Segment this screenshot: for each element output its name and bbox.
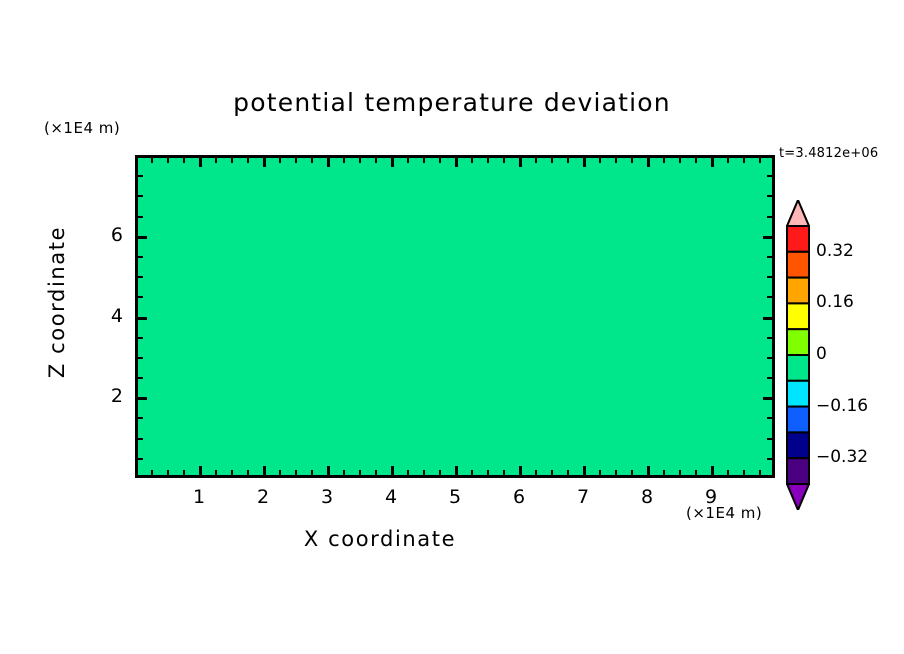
colorbar-cap-top	[787, 200, 809, 226]
x-tick-label: 1	[179, 486, 219, 508]
y-tick	[138, 276, 143, 278]
x-tick-top	[391, 158, 394, 167]
x-tick	[535, 470, 537, 475]
x-tick-label: 6	[499, 486, 539, 508]
x-tick	[679, 470, 681, 475]
x-tick	[151, 470, 153, 475]
x-tick-top	[631, 158, 633, 163]
x-tick	[359, 470, 361, 475]
colorbar-band	[787, 252, 809, 278]
y-tick	[138, 357, 143, 359]
colorbar-tick-label: 0.32	[816, 241, 854, 261]
x-tick-label: 3	[307, 486, 347, 508]
colorbar-band	[787, 432, 809, 458]
y-tick	[138, 195, 143, 197]
y-tick	[138, 216, 143, 218]
x-tick	[199, 466, 202, 475]
x-tick	[183, 470, 185, 475]
y-tick-label: 6	[99, 224, 123, 246]
x-tick	[743, 470, 745, 475]
y-tick-right	[767, 377, 772, 379]
x-tick	[247, 470, 249, 475]
colorbar-swatches	[786, 200, 810, 510]
x-tick-top	[295, 158, 297, 163]
x-tick-top	[503, 158, 505, 163]
x-tick	[631, 470, 633, 475]
x-tick	[519, 466, 522, 475]
x-tick-top	[247, 158, 249, 163]
x-tick	[311, 470, 313, 475]
x-tick	[663, 470, 665, 475]
x-tick	[439, 470, 441, 475]
x-tick	[343, 470, 345, 475]
x-tick	[423, 470, 425, 475]
x-tick-top	[567, 158, 569, 163]
x-tick	[279, 470, 281, 475]
x-tick-top	[407, 158, 409, 163]
x-tick-top	[167, 158, 169, 163]
x-tick-top	[695, 158, 697, 163]
y-tick-right	[763, 317, 772, 320]
x-tick	[375, 470, 377, 475]
x-tick-top	[359, 158, 361, 163]
x-tick-label: 8	[627, 486, 667, 508]
y-tick-right	[767, 357, 772, 359]
x-tick-top	[647, 158, 650, 167]
y-tick-right	[767, 458, 772, 460]
x-tick-top	[487, 158, 489, 163]
x-tick-top	[471, 158, 473, 163]
y-tick	[138, 397, 147, 400]
x-tick-label: 5	[435, 486, 475, 508]
x-tick-label: 2	[243, 486, 283, 508]
x-tick	[455, 466, 458, 475]
colorbar	[786, 200, 810, 510]
x-tick-top	[743, 158, 745, 163]
x-tick	[615, 470, 617, 475]
x-tick	[487, 470, 489, 475]
x-tick	[215, 470, 217, 475]
y-tick	[138, 236, 147, 239]
x-tick	[759, 470, 761, 475]
y-tick-right	[767, 276, 772, 278]
x-tick-top	[599, 158, 601, 163]
y-tick-right	[763, 397, 772, 400]
colorbar-band	[787, 278, 809, 304]
chart-title: potential temperature deviation	[0, 88, 904, 117]
x-tick-top	[263, 158, 266, 167]
x-axis-title: X coordinate	[0, 527, 760, 551]
y-tick	[138, 256, 143, 258]
y-tick	[138, 296, 143, 298]
x-tick-top	[519, 158, 522, 167]
y-tick-right	[767, 337, 772, 339]
time-annotation: t=3.4812e+06	[779, 146, 878, 161]
y-tick	[138, 317, 147, 320]
x-tick	[231, 470, 233, 475]
colorbar-band	[787, 329, 809, 355]
y-tick	[138, 175, 143, 177]
y-tick-right	[763, 236, 772, 239]
x-tick-top	[231, 158, 233, 163]
x-tick-top	[423, 158, 425, 163]
x-tick	[327, 466, 330, 475]
x-tick	[583, 466, 586, 475]
colorbar-band	[787, 381, 809, 407]
figure-root: potential temperature deviation (×1E4 m)…	[0, 0, 904, 654]
x-tick-top	[759, 158, 761, 163]
x-tick	[407, 470, 409, 475]
x-tick-top	[535, 158, 537, 163]
colorbar-band	[787, 355, 809, 381]
y-tick-right	[767, 296, 772, 298]
y-tick-label: 4	[99, 305, 123, 327]
x-axis-unit-label: (×1E4 m)	[686, 504, 762, 522]
z-axis-title: Z coordinate	[45, 207, 69, 397]
y-tick-right	[767, 438, 772, 440]
y-tick	[138, 417, 143, 419]
colorbar-tick-label: −0.32	[816, 447, 868, 467]
x-tick-label: 4	[371, 486, 411, 508]
colorbar-tick-label: −0.16	[816, 396, 868, 416]
colorbar-cap-bottom	[787, 484, 809, 510]
colorbar-tick-label: 0.16	[816, 292, 854, 312]
x-tick	[647, 466, 650, 475]
x-tick	[599, 470, 601, 475]
y-tick-right	[767, 175, 772, 177]
y-tick	[138, 458, 143, 460]
x-tick	[503, 470, 505, 475]
x-tick-top	[551, 158, 553, 163]
colorbar-band	[787, 458, 809, 484]
x-tick	[551, 470, 553, 475]
x-tick-top	[679, 158, 681, 163]
y-tick-label: 2	[99, 385, 123, 407]
x-tick-top	[199, 158, 202, 167]
x-tick-top	[215, 158, 217, 163]
y-tick-right	[767, 256, 772, 258]
x-tick	[695, 470, 697, 475]
x-tick-top	[455, 158, 458, 167]
x-tick-top	[711, 158, 714, 167]
x-tick	[727, 470, 729, 475]
y-tick	[138, 377, 143, 379]
colorbar-band	[787, 226, 809, 252]
y-tick-right	[767, 195, 772, 197]
colorbar-band	[787, 303, 809, 329]
x-tick-top	[663, 158, 665, 163]
x-tick	[567, 470, 569, 475]
x-tick-top	[151, 158, 153, 163]
x-tick-top	[439, 158, 441, 163]
colorbar-band	[787, 407, 809, 433]
x-tick-top	[375, 158, 377, 163]
x-tick-top	[583, 158, 586, 167]
x-tick	[711, 466, 714, 475]
y-tick-right	[767, 216, 772, 218]
x-tick-label: 7	[563, 486, 603, 508]
contour-field	[138, 158, 772, 475]
y-tick	[138, 337, 143, 339]
x-tick-top	[327, 158, 330, 167]
x-tick-top	[615, 158, 617, 163]
x-tick-top	[343, 158, 345, 163]
x-tick-top	[279, 158, 281, 163]
z-axis-unit-label: (×1E4 m)	[44, 119, 120, 137]
y-tick-right	[767, 417, 772, 419]
x-tick-top	[311, 158, 313, 163]
y-tick	[138, 438, 143, 440]
x-tick	[471, 470, 473, 475]
contour-plot-area	[135, 155, 775, 478]
x-tick	[391, 466, 394, 475]
x-tick-top	[183, 158, 185, 163]
colorbar-tick-label: 0	[816, 344, 827, 364]
x-tick	[263, 466, 266, 475]
x-tick-top	[727, 158, 729, 163]
x-tick	[167, 470, 169, 475]
x-tick	[295, 470, 297, 475]
